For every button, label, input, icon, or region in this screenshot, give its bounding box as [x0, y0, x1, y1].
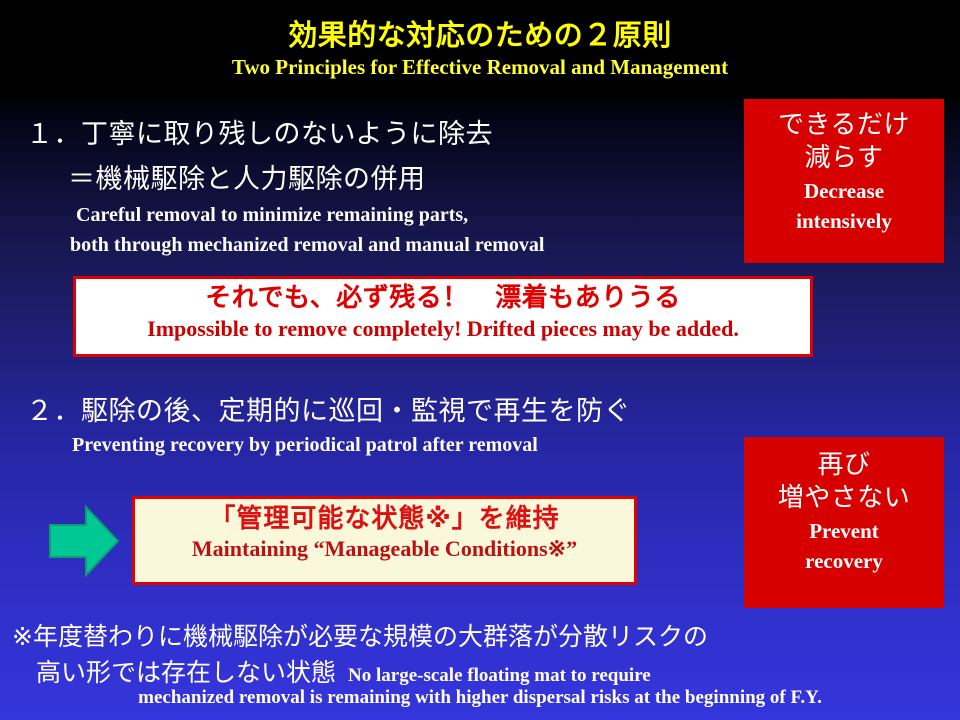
principle-2-heading-line1: ２．駆除の後、定期的に巡回・監視で再生を防ぐ: [26, 389, 631, 428]
warning-box-japanese: それでも、必ず残る！ 漂着もありうる: [76, 283, 810, 314]
footnote-english-line1: No large-scale floating mat to require: [348, 665, 651, 686]
callout-decrease-en-line1: Decrease: [744, 178, 944, 206]
warning-box-english: Impossible to remove completely! Drifted…: [76, 316, 810, 342]
callout-decrease-intensively: できるだけ 減らす Decrease intensively: [744, 99, 944, 263]
principle-1-heading-line2: ＝機械駆除と人力駆除の併用: [68, 157, 426, 196]
slide-title-block: 効果的な対応のための２原則 Two Principles for Effecti…: [0, 20, 960, 80]
callout-decrease-jp-line1: できるだけ: [744, 109, 944, 142]
right-arrow-icon: [48, 503, 120, 579]
warning-box: それでも、必ず残る！ 漂着もありうる Impossible to remove …: [73, 276, 813, 357]
callout-decrease-en-line2: intensively: [744, 208, 944, 236]
principle-1-heading-line1: １．丁寧に取り残しのないように除去: [26, 112, 493, 151]
callout-prevent-jp-line1: 再び: [744, 449, 944, 482]
callout-prevent-en-line1: Prevent: [744, 518, 944, 546]
slide-canvas: 効果的な対応のための２原則 Two Principles for Effecti…: [0, 0, 960, 720]
footnote-japanese-line1: ※年度替わりに機械駆除が必要な規模の大群落が分散リスクの: [12, 617, 708, 653]
page-title-english: Two Principles for Effective Removal and…: [0, 55, 960, 80]
maintain-conditions-box: 「管理可能な状態※」を維持 Maintaining “Manageable Co…: [132, 496, 637, 585]
footnote-english-line2: mechanized removal is remaining with hig…: [0, 687, 960, 709]
callout-prevent-recovery: 再び 増やさない Prevent recovery: [744, 437, 944, 608]
maintain-box-english: Maintaining “Manageable Conditions※”: [135, 536, 634, 562]
maintain-box-japanese: 「管理可能な状態※」を維持: [135, 504, 634, 535]
principle-1-english-line1: Careful removal to minimize remaining pa…: [76, 204, 468, 227]
footnote-line2-group: 高い形では存在しない状態No large-scale floating mat …: [36, 653, 651, 689]
callout-prevent-jp-line2: 増やさない: [744, 482, 944, 515]
callout-prevent-en-line2: recovery: [744, 548, 944, 576]
footnote-japanese-line2: 高い形では存在しない状態: [36, 658, 336, 687]
principle-1-english-line2: both through mechanized removal and manu…: [70, 234, 544, 257]
page-title-japanese: 効果的な対応のための２原則: [0, 20, 960, 50]
principle-2-english-line1: Preventing recovery by periodical patrol…: [72, 434, 538, 457]
callout-decrease-jp-line2: 減らす: [744, 142, 944, 175]
